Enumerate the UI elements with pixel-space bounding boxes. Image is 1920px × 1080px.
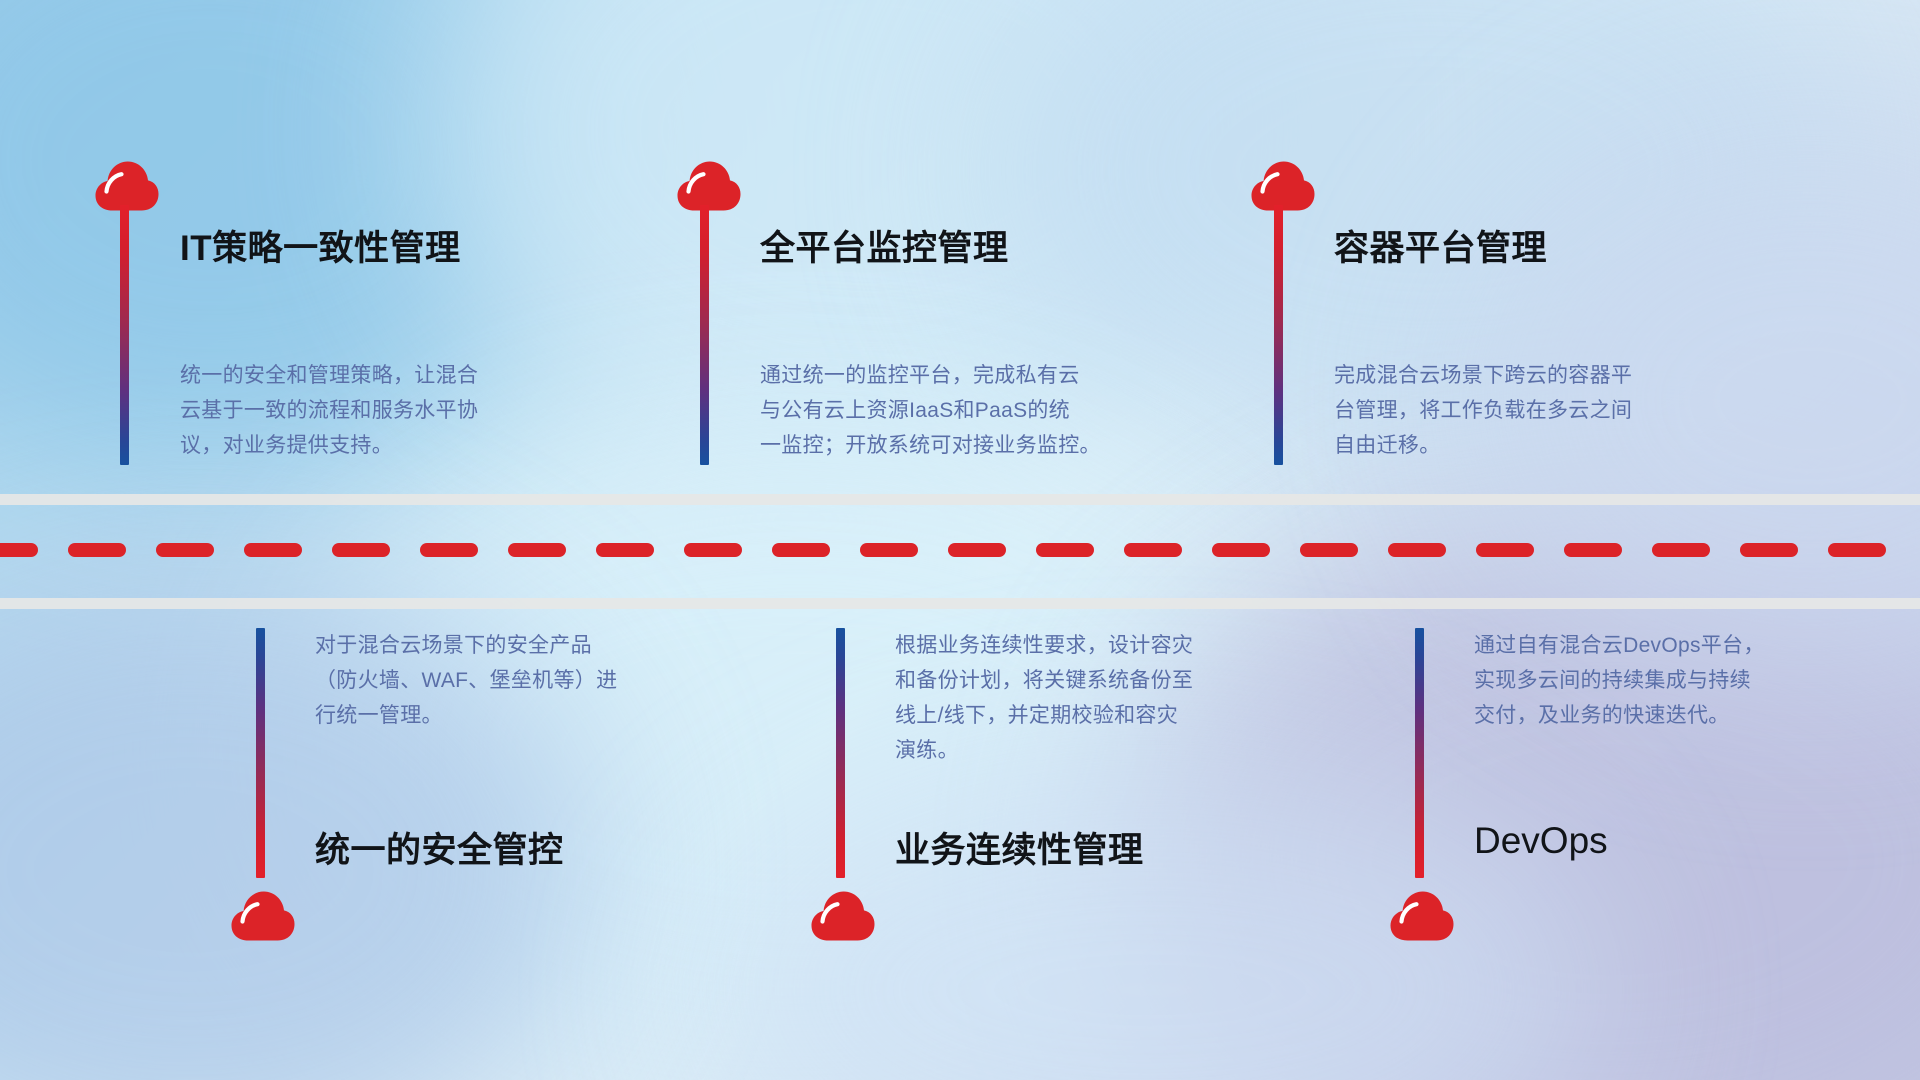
road-dash	[948, 543, 1006, 557]
body-line: 根据业务连续性要求，设计容灾	[895, 628, 1315, 663]
card-heading: 全平台监控管理	[760, 220, 1009, 271]
road-dash	[68, 543, 126, 557]
road-dash	[1212, 543, 1270, 557]
road-dash	[420, 543, 478, 557]
body-line: 通过统一的监控平台，完成私有云	[760, 358, 1180, 393]
road-dash	[244, 543, 302, 557]
body-line: （防火墙、WAF、堡垒机等）进	[315, 663, 735, 698]
road-dash	[1300, 543, 1358, 557]
body-line: 完成混合云场景下跨云的容器平	[1334, 358, 1754, 393]
road-dash	[508, 543, 566, 557]
card-body-text: 完成混合云场景下跨云的容器平 台管理，将工作负载在多云之间 自由迁移。	[1334, 358, 1754, 463]
road-dash	[156, 543, 214, 557]
road-dash	[1036, 543, 1094, 557]
body-line: 对于混合云场景下的安全产品	[315, 628, 735, 663]
connector-stem	[1274, 205, 1283, 465]
road-dash	[1388, 543, 1446, 557]
body-line: 实现多云间的持续集成与持续	[1474, 663, 1894, 698]
body-line: 行统一管理。	[315, 698, 735, 733]
body-line: 交付，及业务的快速迭代。	[1474, 698, 1894, 733]
road-dash	[860, 543, 918, 557]
body-line: 一监控；开放系统可对接业务监控。	[760, 428, 1180, 463]
road-dash	[1740, 543, 1798, 557]
card-body-text: 通过自有混合云DevOps平台， 实现多云间的持续集成与持续 交付，及业务的快速…	[1474, 628, 1894, 733]
cloud-icon	[1389, 890, 1455, 942]
road-dash	[684, 543, 742, 557]
connector-stem	[700, 205, 709, 465]
card-body-text: 对于混合云场景下的安全产品 （防火墙、WAF、堡垒机等）进 行统一管理。	[315, 628, 735, 733]
road-edge-line-bottom	[0, 598, 1920, 609]
cloud-icon	[230, 890, 296, 942]
body-line: 议，对业务提供支持。	[180, 428, 600, 463]
body-line: 和备份计划，将关键系统备份至	[895, 663, 1315, 698]
card-heading: DevOps	[1474, 820, 1608, 862]
card-body-text: 统一的安全和管理策略，让混合 云基于一致的流程和服务水平协 议，对业务提供支持。	[180, 358, 600, 463]
card-body-text: 根据业务连续性要求，设计容灾 和备份计划，将关键系统备份至 线上/线下，并定期校…	[895, 628, 1315, 768]
card-heading: 容器平台管理	[1334, 220, 1547, 271]
body-line: 云基于一致的流程和服务水平协	[180, 393, 600, 428]
cloud-icon	[676, 160, 742, 212]
road-dash	[1828, 543, 1886, 557]
card-body-text: 通过统一的监控平台，完成私有云 与公有云上资源IaaS和PaaS的统 一监控；开…	[760, 358, 1180, 463]
body-line: 与公有云上资源IaaS和PaaS的统	[760, 393, 1180, 428]
card-heading: 统一的安全管控	[315, 822, 564, 873]
road-center-dashed-line	[0, 543, 1920, 557]
road-dash	[0, 543, 38, 557]
road-dash	[1652, 543, 1710, 557]
card-heading: 业务连续性管理	[895, 822, 1144, 873]
connector-stem	[120, 205, 129, 465]
road-dash	[772, 543, 830, 557]
body-line: 线上/线下，并定期校验和容灾	[895, 698, 1315, 733]
road-dash	[1476, 543, 1534, 557]
infographic-canvas: IT策略一致性管理 统一的安全和管理策略，让混合 云基于一致的流程和服务水平协 …	[0, 0, 1920, 1080]
connector-stem	[1415, 628, 1424, 878]
road-dash	[332, 543, 390, 557]
road-dash	[1124, 543, 1182, 557]
connector-stem	[836, 628, 845, 878]
road-edge-line-top	[0, 494, 1920, 505]
road-dash	[596, 543, 654, 557]
cloud-icon	[1250, 160, 1316, 212]
connector-stem	[256, 628, 265, 878]
body-line: 自由迁移。	[1334, 428, 1754, 463]
body-line: 演练。	[895, 733, 1315, 768]
road-dash	[1564, 543, 1622, 557]
card-heading: IT策略一致性管理	[180, 220, 461, 271]
body-line: 通过自有混合云DevOps平台，	[1474, 628, 1894, 663]
body-line: 台管理，将工作负载在多云之间	[1334, 393, 1754, 428]
cloud-icon	[810, 890, 876, 942]
body-line: 统一的安全和管理策略，让混合	[180, 358, 600, 393]
